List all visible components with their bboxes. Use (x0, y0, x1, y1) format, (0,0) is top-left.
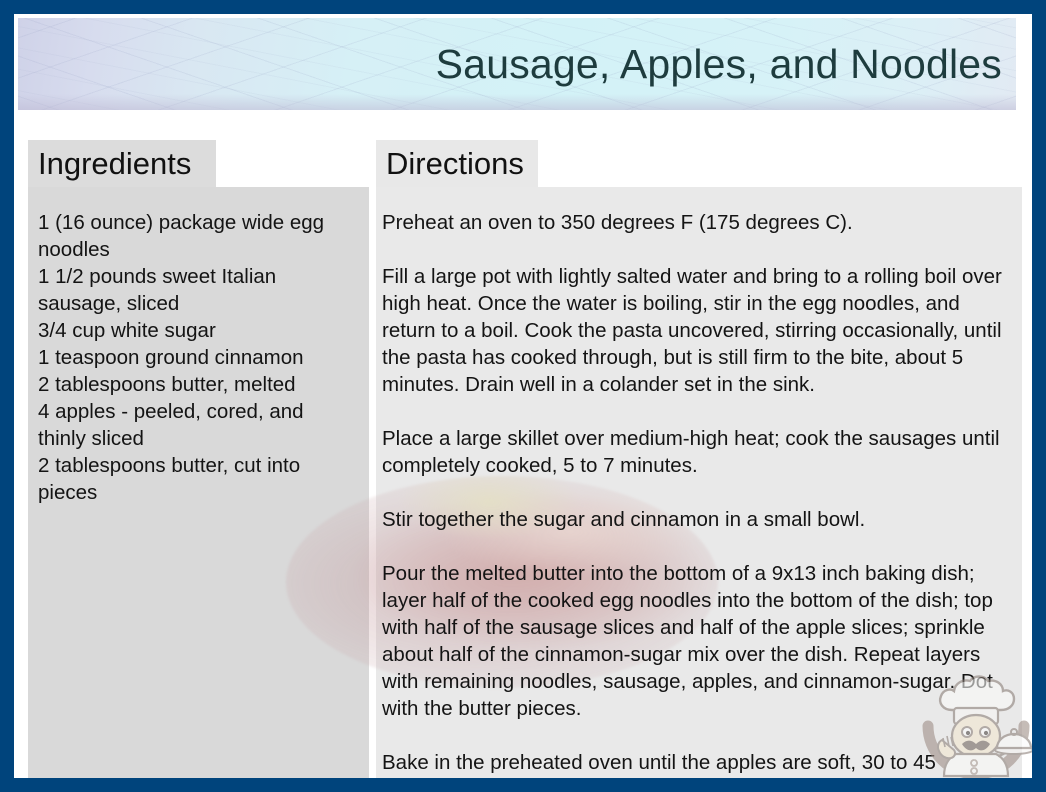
direction-step: Fill a large pot with lightly salted wat… (382, 263, 1008, 398)
direction-step: Preheat an oven to 350 degrees F (175 de… (382, 209, 1008, 236)
ingredients-panel: 1 (16 ounce) package wide egg noodles 1 … (28, 187, 369, 786)
page-title: Sausage, Apples, and Noodles (436, 36, 1002, 92)
recipe-card: Sausage, Apples, and Noodles Ingredients… (0, 0, 1046, 792)
direction-step: Bake in the preheated oven until the app… (382, 749, 1008, 786)
header-banner: Sausage, Apples, and Noodles (18, 18, 1016, 110)
section-header-ingredients: Ingredients (28, 140, 216, 187)
direction-step: Stir together the sugar and cinnamon in … (382, 506, 1008, 533)
direction-step: Place a large skillet over medium-high h… (382, 425, 1008, 479)
section-header-directions: Directions (376, 140, 538, 187)
ingredients-list: 1 (16 ounce) package wide egg noodles 1 … (38, 209, 351, 506)
direction-step: Pour the melted butter into the bottom o… (382, 560, 1008, 722)
directions-panel: Preheat an oven to 350 degrees F (175 de… (376, 187, 1022, 786)
